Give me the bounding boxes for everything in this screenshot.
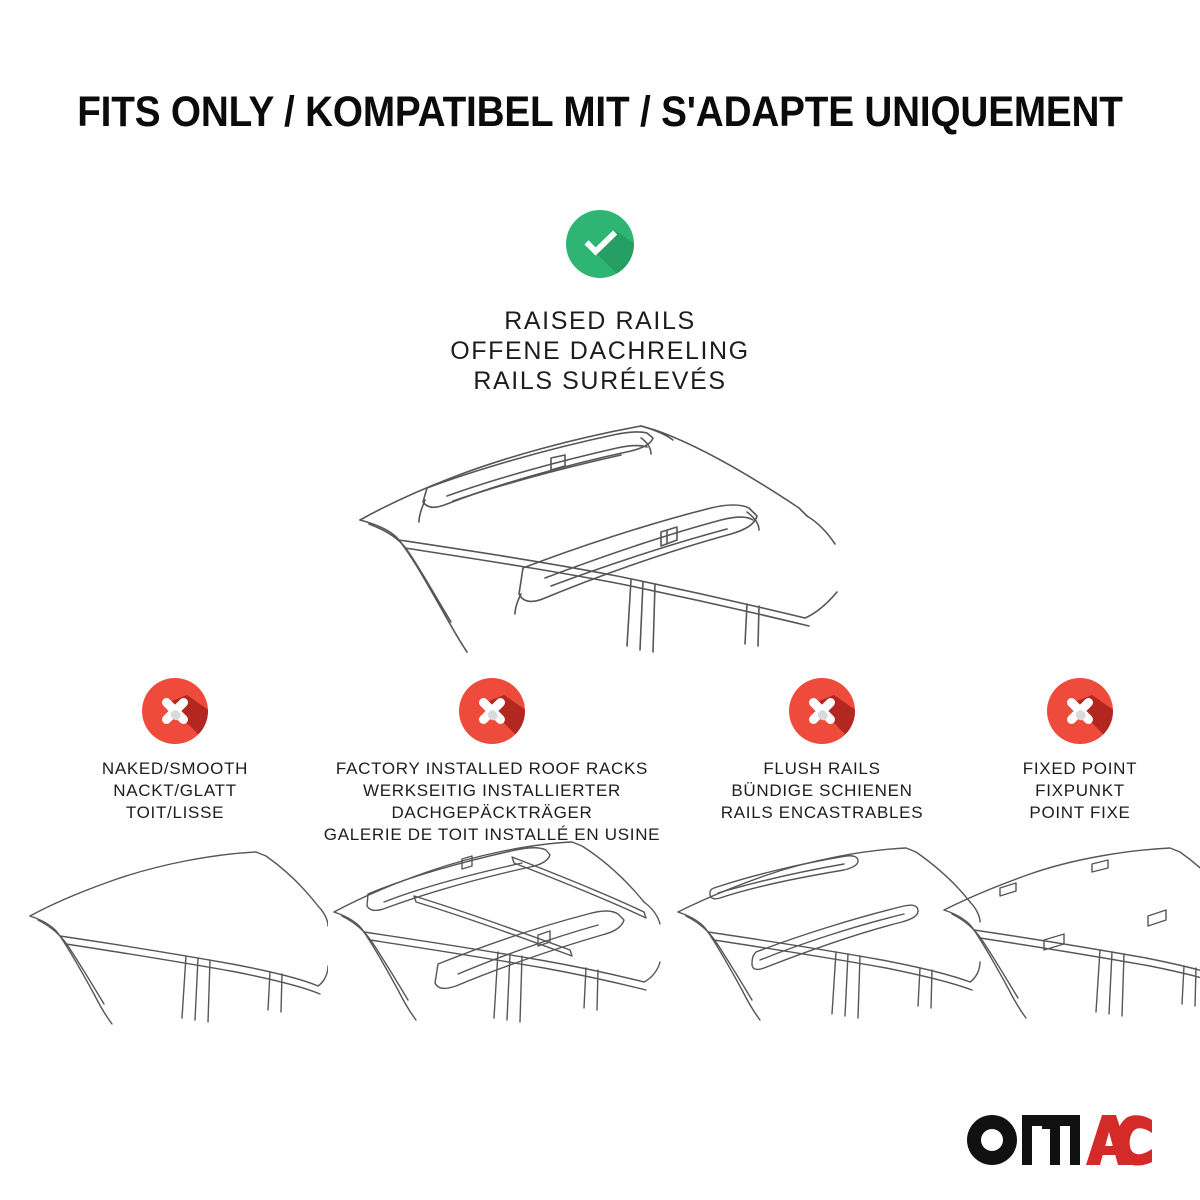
check-circle-icon (564, 208, 636, 280)
compatible-label-fr: RAILS SURÉLEVÉS (0, 366, 1200, 396)
compatible-label-de: OFFENE DACHRELING (0, 336, 1200, 366)
car-roof-raised-rails-illustration (355, 400, 855, 675)
compatible-section: RAISED RAILS OFFENE DACHRELING RAILS SUR… (0, 208, 1200, 396)
x-circle-icon (787, 676, 857, 746)
logo-letter-o (967, 1115, 1017, 1165)
omac-logo (966, 1112, 1152, 1168)
label-de-2: DACHGEPÄCKTRÄGER (312, 802, 672, 824)
x-circle-icon (1045, 676, 1115, 746)
label-en: FACTORY INSTALLED ROOF RACKS (312, 758, 672, 780)
not-compatible-column-factory-racks: FACTORY INSTALLED ROOF RACKS WERKSEITIG … (312, 676, 672, 846)
not-compatible-column-flush-rails: FLUSH RAILS BÜNDIGE SCHIENEN RAILS ENCAS… (672, 676, 972, 824)
not-compatible-labels: NAKED/SMOOTH NACKT/GLATT TOIT/LISSE (30, 758, 320, 824)
car-roof-fixed-point-illustration (934, 844, 1200, 1034)
label-fr: RAILS ENCASTRABLES (672, 802, 972, 824)
car-roof-factory-roof-racks-illustration (320, 824, 665, 1039)
not-compatible-column-naked-smooth: NAKED/SMOOTH NACKT/GLATT TOIT/LISSE (30, 676, 320, 824)
compatible-labels: RAISED RAILS OFFENE DACHRELING RAILS SUR… (0, 306, 1200, 396)
logo-letter-m (1022, 1115, 1080, 1165)
label-en: NAKED/SMOOTH (30, 758, 320, 780)
not-compatible-labels: FLUSH RAILS BÜNDIGE SCHIENEN RAILS ENCAS… (672, 758, 972, 824)
page-title: FITS ONLY / KOMPATIBEL MIT / S'ADAPTE UN… (60, 88, 1140, 137)
label-de: BÜNDIGE SCHIENEN (672, 780, 972, 802)
not-compatible-column-fixed-point: FIXED POINT FIXPUNKT POINT FIXE (960, 676, 1200, 824)
x-circle-icon (457, 676, 527, 746)
label-fr: TOIT/LISSE (30, 802, 320, 824)
label-de-1: WERKSEITIG INSTALLIERTER (312, 780, 672, 802)
label-en: FLUSH RAILS (672, 758, 972, 780)
label-fr: POINT FIXE (960, 802, 1200, 824)
car-roof-naked-smooth-illustration (18, 844, 328, 1034)
label-de: NACKT/GLATT (30, 780, 320, 802)
label-de: FIXPUNKT (960, 780, 1200, 802)
label-en: FIXED POINT (960, 758, 1200, 780)
compatible-label-en: RAISED RAILS (0, 306, 1200, 336)
not-compatible-labels: FIXED POINT FIXPUNKT POINT FIXE (960, 758, 1200, 824)
x-circle-icon (140, 676, 210, 746)
fitment-info-graphic: FITS ONLY / KOMPATIBEL MIT / S'ADAPTE UN… (0, 0, 1200, 1200)
